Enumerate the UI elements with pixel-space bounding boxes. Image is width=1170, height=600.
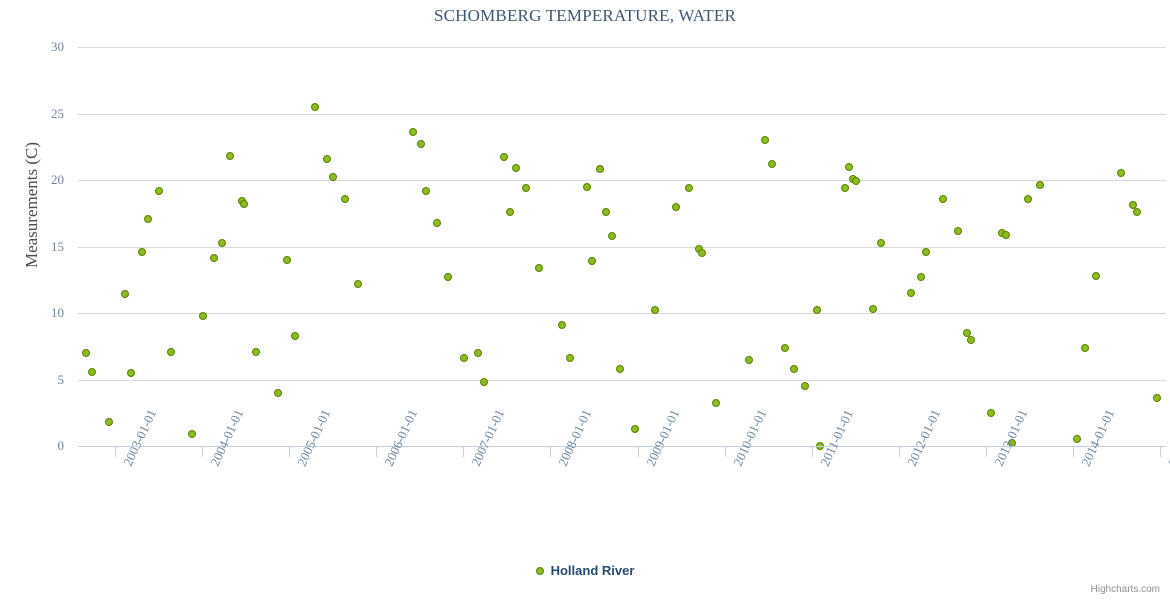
scatter-point[interactable] — [566, 354, 574, 362]
scatter-point[interactable] — [907, 289, 915, 297]
scatter-point[interactable] — [144, 215, 152, 223]
x-axis-tick-mark — [202, 447, 203, 457]
scatter-point[interactable] — [939, 195, 947, 203]
gridline-y-15 — [78, 247, 1166, 248]
scatter-point[interactable] — [790, 365, 798, 373]
scatter-point[interactable] — [506, 208, 514, 216]
scatter-point[interactable] — [210, 254, 218, 262]
scatter-point[interactable] — [480, 378, 488, 386]
scatter-point[interactable] — [922, 248, 930, 256]
scatter-point[interactable] — [954, 227, 962, 235]
x-axis-tick-mark — [289, 447, 290, 457]
scatter-point[interactable] — [252, 348, 260, 356]
scatter-point[interactable] — [1133, 208, 1141, 216]
gridline-y-25 — [78, 114, 1166, 115]
scatter-point[interactable] — [1092, 272, 1100, 280]
scatter-point[interactable] — [558, 321, 566, 329]
scatter-point[interactable] — [283, 256, 291, 264]
x-axis-tick-mark — [812, 447, 813, 457]
scatter-point[interactable] — [877, 239, 885, 247]
y-axis-tick-label: 25 — [51, 106, 64, 122]
scatter-point[interactable] — [88, 368, 96, 376]
y-axis-tick-label: 30 — [51, 39, 64, 55]
scatter-point[interactable] — [1024, 195, 1032, 203]
scatter-point[interactable] — [323, 155, 331, 163]
scatter-point[interactable] — [121, 290, 129, 298]
scatter-point[interactable] — [341, 195, 349, 203]
scatter-point[interactable] — [845, 163, 853, 171]
y-axis-tick-label: 10 — [51, 305, 64, 321]
scatter-point[interactable] — [685, 184, 693, 192]
scatter-point[interactable] — [291, 332, 299, 340]
scatter-point[interactable] — [602, 208, 610, 216]
scatter-point[interactable] — [226, 152, 234, 160]
scatter-point[interactable] — [417, 140, 425, 148]
x-axis-tick-mark — [1160, 447, 1161, 457]
scatter-point[interactable] — [616, 365, 624, 373]
x-axis-tick-mark — [463, 447, 464, 457]
scatter-point[interactable] — [82, 349, 90, 357]
highcharts-container: SCHOMBERG TEMPERATURE, WATER Measurement… — [0, 0, 1170, 600]
legend-item-holland-river[interactable]: Holland River — [536, 562, 635, 580]
gridline-y-10 — [78, 313, 1166, 314]
scatter-point[interactable] — [240, 200, 248, 208]
scatter-point[interactable] — [433, 219, 441, 227]
scatter-point[interactable] — [535, 264, 543, 272]
scatter-point[interactable] — [274, 389, 282, 397]
scatter-point[interactable] — [761, 136, 769, 144]
scatter-point[interactable] — [745, 356, 753, 364]
x-axis-tick-mark — [550, 447, 551, 457]
scatter-point[interactable] — [1002, 231, 1010, 239]
scatter-point[interactable] — [199, 312, 207, 320]
gridline-y-5 — [78, 380, 1166, 381]
x-axis-tick-mark — [1073, 447, 1074, 457]
scatter-point[interactable] — [1117, 169, 1125, 177]
scatter-point[interactable] — [917, 273, 925, 281]
y-axis-tick-label: 5 — [58, 372, 65, 388]
scatter-point[interactable] — [188, 430, 196, 438]
scatter-point[interactable] — [500, 153, 508, 161]
scatter-point[interactable] — [218, 239, 226, 247]
scatter-point[interactable] — [444, 273, 452, 281]
scatter-point[interactable] — [781, 344, 789, 352]
scatter-point[interactable] — [409, 128, 417, 136]
scatter-point[interactable] — [852, 177, 860, 185]
scatter-point[interactable] — [698, 249, 706, 257]
scatter-point[interactable] — [987, 409, 995, 417]
x-axis-tick-mark — [638, 447, 639, 457]
legend-item-label: Holland River — [551, 563, 635, 578]
scatter-point[interactable] — [631, 425, 639, 433]
scatter-point[interactable] — [354, 280, 362, 288]
chart-legend: Holland River — [0, 562, 1170, 580]
scatter-point[interactable] — [1036, 181, 1044, 189]
scatter-point[interactable] — [1153, 394, 1161, 402]
legend-marker-icon — [536, 567, 544, 575]
y-axis-tick-label: 0 — [58, 438, 65, 454]
scatter-point[interactable] — [596, 165, 604, 173]
x-axis-tick-mark — [376, 447, 377, 457]
scatter-point[interactable] — [768, 160, 776, 168]
x-axis-tick-mark — [899, 447, 900, 457]
y-axis-tick-label: 15 — [51, 239, 64, 255]
y-axis-tick-label: 20 — [51, 172, 64, 188]
scatter-point[interactable] — [512, 164, 520, 172]
scatter-point[interactable] — [712, 399, 720, 407]
scatter-point[interactable] — [588, 257, 596, 265]
x-axis-tick-mark — [986, 447, 987, 457]
scatter-point[interactable] — [608, 232, 616, 240]
chart-title: SCHOMBERG TEMPERATURE, WATER — [0, 6, 1170, 26]
scatter-point[interactable] — [869, 305, 877, 313]
gridline-y-30 — [78, 47, 1166, 48]
scatter-point[interactable] — [474, 349, 482, 357]
scatter-point[interactable] — [167, 348, 175, 356]
scatter-point[interactable] — [672, 203, 680, 211]
scatter-point[interactable] — [522, 184, 530, 192]
scatter-point[interactable] — [127, 369, 135, 377]
gridline-y-20 — [78, 180, 1166, 181]
y-axis-title: Measurements (C) — [22, 85, 42, 325]
scatter-point[interactable] — [967, 336, 975, 344]
scatter-point[interactable] — [801, 382, 809, 390]
scatter-point[interactable] — [422, 187, 430, 195]
scatter-point[interactable] — [583, 183, 591, 191]
scatter-point[interactable] — [311, 103, 319, 111]
scatter-point[interactable] — [841, 184, 849, 192]
credits-link[interactable]: Highcharts.com — [1091, 584, 1160, 595]
scatter-point[interactable] — [155, 187, 163, 195]
x-axis-tick-mark — [115, 447, 116, 457]
plot-area — [78, 47, 1166, 447]
scatter-point[interactable] — [460, 354, 468, 362]
scatter-point[interactable] — [1081, 344, 1089, 352]
x-axis-tick-mark — [725, 447, 726, 457]
scatter-point[interactable] — [138, 248, 146, 256]
scatter-point[interactable] — [105, 418, 113, 426]
scatter-point[interactable] — [1073, 435, 1081, 443]
